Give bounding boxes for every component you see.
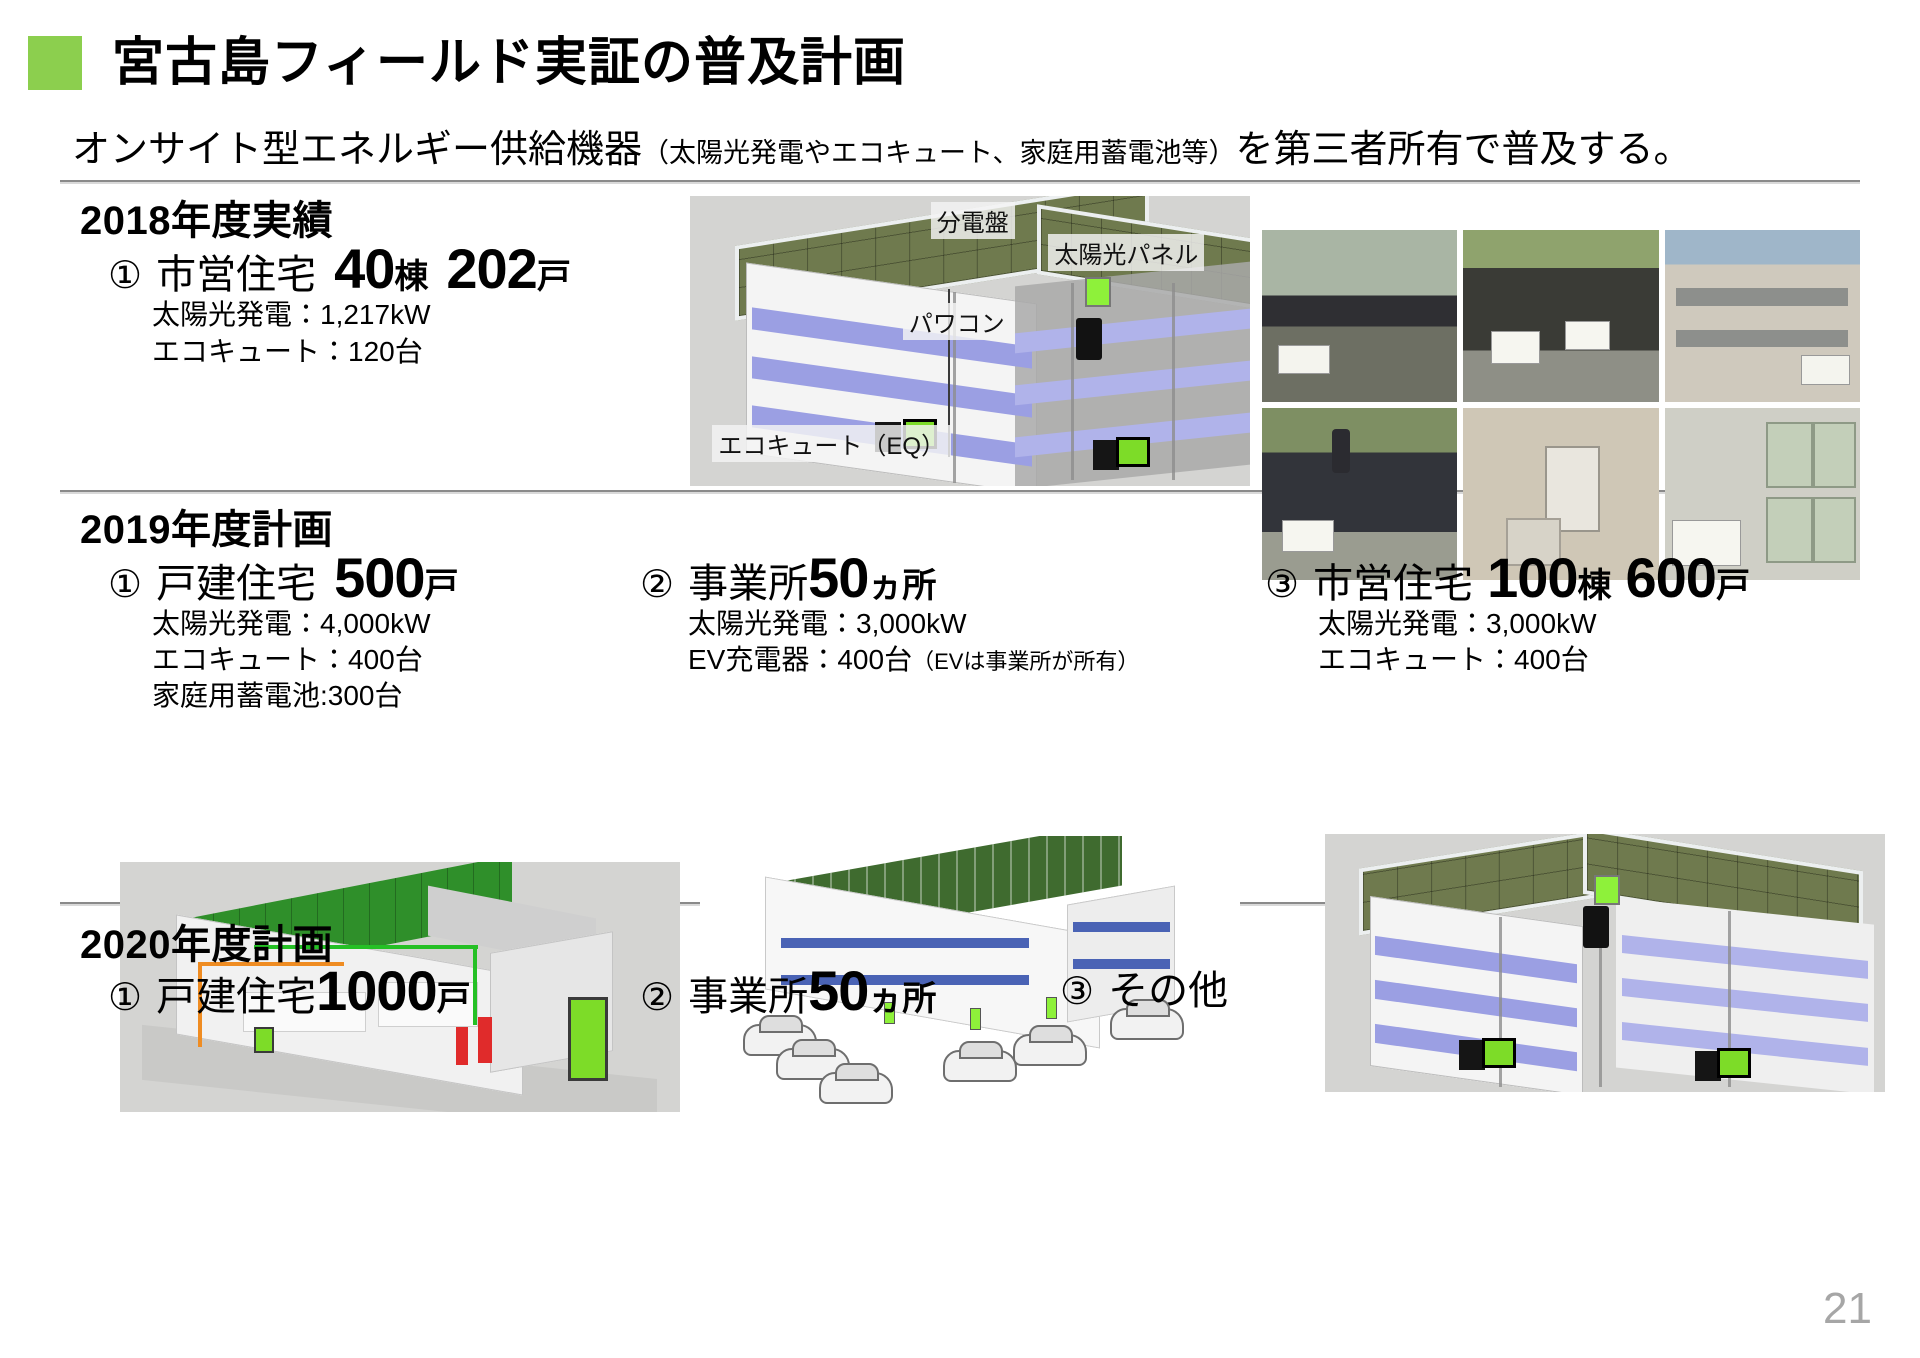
detail-text: 太陽光発電：3,000kW	[688, 608, 967, 639]
tag-power-conditioner: パワコン	[903, 303, 1011, 340]
item-2019-1: ① 戸建住宅 500 戸	[108, 545, 459, 610]
item-unit-1: ヵ所	[868, 558, 936, 607]
building-column	[1172, 283, 1175, 480]
detail-text: エコキュート：400台	[152, 644, 423, 675]
item-2018-1: ① 市営住宅 40 棟 202 戸	[108, 236, 571, 301]
ecocute-unit	[1116, 437, 1150, 467]
item-unit-1: 戸	[437, 971, 471, 1020]
divider-1	[60, 180, 1860, 184]
item-2019-3: ③ 市営住宅 100 棟 600 戸	[1265, 545, 1750, 610]
item-unit-1: 戸	[425, 558, 459, 607]
detail-note: （EVは事業所が所有）	[912, 649, 1139, 674]
subtitle-main: オンサイト型エネルギー供給機器	[72, 129, 642, 171]
item-unit-1: 棟	[394, 249, 428, 298]
item-value-1: 100	[1487, 545, 1577, 610]
item-2020-3: ③ その他	[1060, 958, 1228, 1016]
detail-text: 太陽光発電：4,000kW	[152, 608, 431, 639]
item-circle-number: ①	[108, 562, 142, 607]
detail-text: 家庭用蓄電池:300台	[152, 680, 403, 711]
ev-charger-icon	[970, 1008, 981, 1030]
item-value-2: 600	[1626, 545, 1716, 610]
green-wire	[473, 945, 477, 1025]
item-2019-2: ② 事業所 50 ヵ所	[640, 545, 936, 610]
ecocute-unit	[1717, 1048, 1751, 1078]
subtitle-tail: を第三者所有で普及する。	[1235, 129, 1691, 171]
subtitle-paren: （太陽光発電やエコキュート、家庭用蓄電池等）	[642, 138, 1235, 168]
subtitle: オンサイト型エネルギー供給機器（太陽光発電やエコキュート、家庭用蓄電池等）を第三…	[72, 118, 1692, 173]
item-unit-1: 棟	[1578, 558, 1612, 607]
title-marker-icon	[28, 36, 82, 90]
item-2020-1: ① 戸建住宅 1000 戸	[108, 958, 471, 1023]
item-unit-1: ヵ所	[868, 971, 936, 1020]
tag-solar-panel: 太陽光パネル	[1048, 234, 1204, 271]
parked-car	[819, 1072, 893, 1104]
item-value-1: 50	[808, 958, 868, 1023]
item-detail: 太陽光発電：4,000kW	[152, 602, 431, 642]
item-value-1: 40	[334, 236, 394, 301]
detail-text: エコキュート：120台	[152, 336, 423, 367]
item-unit-2: 戸	[537, 249, 571, 298]
item-detail: エコキュート：120台	[152, 330, 423, 370]
title-text: 宮古島フィールド実証の普及計画	[112, 37, 906, 89]
photo-rooftop-solar-install-2	[1463, 230, 1658, 402]
tag-ecocute: エコキュート（EQ）	[712, 425, 951, 462]
distribution-board-unit	[1085, 277, 1111, 307]
photo-apartment-exterior	[1665, 230, 1860, 402]
power-conditioner-unit	[1076, 318, 1102, 360]
illustration-apartment-2019	[1325, 834, 1885, 1092]
page-number: 21	[1823, 1284, 1872, 1334]
photo-grid-2018	[1262, 230, 1860, 580]
item-circle-number: ①	[108, 253, 142, 298]
item-detail: 太陽光発電：3,000kW	[688, 602, 967, 642]
distribution-board-unit	[1594, 875, 1620, 905]
item-detail: 太陽光発電：3,000kW	[1318, 602, 1597, 642]
item-value-1: 1000	[316, 958, 437, 1023]
ecocute-unit	[254, 1027, 274, 1053]
ecocute-unit	[1482, 1038, 1516, 1068]
item-circle-number: ③	[1265, 562, 1299, 607]
item-circle-number: ①	[108, 975, 142, 1020]
power-conditioner-unit	[1583, 906, 1609, 948]
item-value-1: 50	[808, 545, 868, 610]
item-detail: エコキュート：400台	[152, 638, 423, 678]
detail-text: 太陽光発電：3,000kW	[1318, 608, 1597, 639]
window-band	[781, 938, 1029, 948]
page-title: 宮古島フィールド実証の普及計画	[28, 36, 906, 90]
illustration-apartment-2018: 分電盤 太陽光パネル パワコン エコキュート（EQ）	[690, 196, 1250, 486]
home-battery-unit	[568, 997, 608, 1081]
item-label: 市営住宅	[156, 242, 316, 300]
item-detail: 家庭用蓄電池:300台	[152, 674, 403, 714]
detail-text: エコキュート：400台	[1318, 644, 1589, 675]
item-circle-number: ②	[640, 975, 674, 1020]
item-label: 戸建住宅	[156, 964, 316, 1022]
item-label: 市営住宅	[1313, 551, 1473, 609]
water-heater-tank	[456, 1027, 468, 1065]
item-detail: 太陽光発電：1,217kW	[152, 293, 431, 333]
item-unit-2: 戸	[1716, 558, 1750, 607]
water-heater-tank	[478, 1017, 492, 1063]
building-column	[1071, 283, 1074, 480]
item-detail: エコキュート：400台	[1318, 638, 1589, 678]
slide-root: 宮古島フィールド実証の普及計画 オンサイト型エネルギー供給機器（太陽光発電やエコ…	[0, 0, 1920, 1358]
ev-charger-icon	[1046, 997, 1057, 1019]
item-detail: EV充電器：400台（EVは事業所が所有）	[688, 638, 1139, 678]
item-value-2: 202	[446, 236, 536, 301]
detail-text: 太陽光発電：1,217kW	[152, 299, 431, 330]
window-band	[1073, 922, 1170, 932]
item-2020-2: ② 事業所 50 ヵ所	[640, 958, 936, 1023]
item-label: 事業所	[688, 964, 808, 1022]
item-label: 事業所	[688, 551, 808, 609]
parked-car	[943, 1050, 1017, 1082]
item-label: 戸建住宅	[156, 551, 316, 609]
tag-distribution-board: 分電盤	[931, 202, 1015, 239]
parked-car	[1013, 1034, 1087, 1066]
item-circle-number: ③	[1060, 969, 1094, 1014]
item-value-1: 500	[334, 545, 424, 610]
item-label: その他	[1108, 958, 1228, 1016]
item-circle-number: ②	[640, 562, 674, 607]
photo-rooftop-solar-install-1	[1262, 230, 1457, 402]
detail-text: EV充電器：400台	[688, 644, 912, 675]
